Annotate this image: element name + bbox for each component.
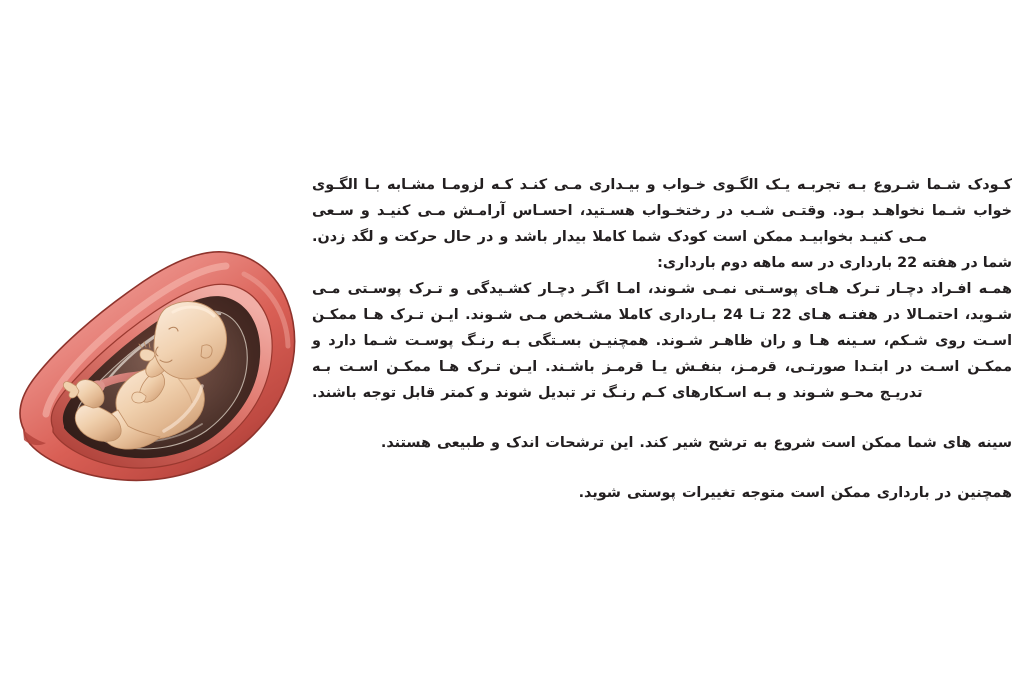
article-text-column: کـودک شـما شـروع بـه تجربـه یـک الگـوی خ… xyxy=(312,172,1012,506)
paragraph-skin-changes: همچنین در بارداری ممکن است متوجه تغییرات… xyxy=(312,480,1012,506)
paragraph-breast-leaking: سینه های شما ممکن است شروع به ترشح شیر ک… xyxy=(312,430,1012,456)
document-page: کـودک شـما شـروع بـه تجربـه یـک الگـوی خ… xyxy=(0,0,1024,683)
fetus-in-womb-svg xyxy=(6,200,306,485)
paragraph-week-22-heading: شما در هفته 22 بارداری در سه ماهه دوم با… xyxy=(312,250,1012,276)
paragraph-sleep-pattern: کـودک شـما شـروع بـه تجربـه یـک الگـوی خ… xyxy=(312,172,1012,250)
fetus-in-womb-illustration xyxy=(6,200,306,485)
paragraph-stretch-marks: همـه افـراد دچـار تـرک هـای پوسـتی نمـی … xyxy=(312,276,1012,406)
